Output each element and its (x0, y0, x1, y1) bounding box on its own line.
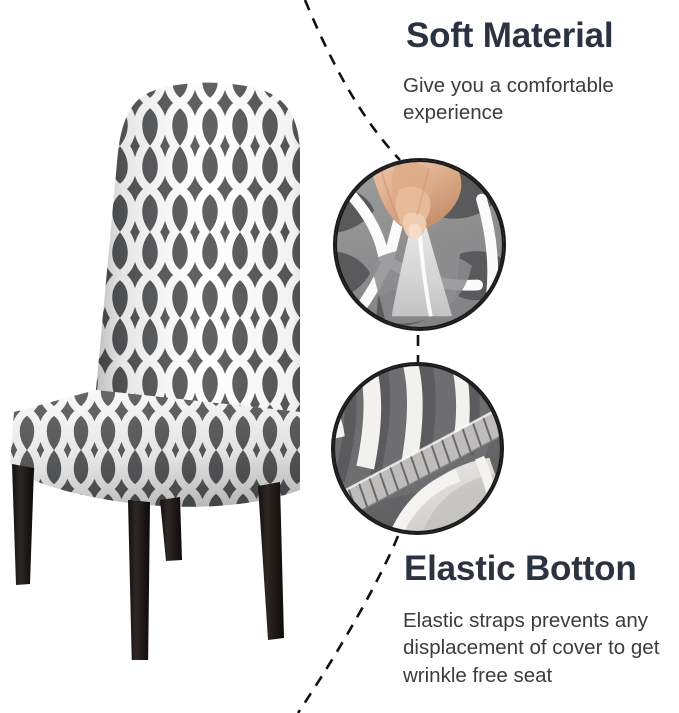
chair-leg-rear-left (160, 497, 182, 561)
soft-material-heading: Soft Material (406, 18, 613, 55)
chair-illustration (0, 60, 330, 660)
elastic-bottom-description: Elastic straps prevents any displacement… (403, 607, 675, 689)
elastic-bottom-heading: Elastic Botton (404, 551, 637, 588)
product-chair-image (0, 60, 330, 660)
chair-leg-rear-right (258, 482, 284, 640)
soft-material-inset-photo (333, 158, 506, 331)
chair-leg-front-left (12, 464, 34, 585)
chair-leg-front-right (128, 500, 150, 660)
infographic-canvas: Soft Material Give you a comfortable exp… (0, 0, 679, 713)
chair-back (80, 70, 320, 430)
hand-stretching-fabric-photo (335, 160, 504, 329)
elastic-hem-photo (333, 364, 502, 533)
elastic-bottom-inset-photo (331, 362, 504, 535)
soft-material-description: Give you a comfortable experience (403, 72, 671, 127)
